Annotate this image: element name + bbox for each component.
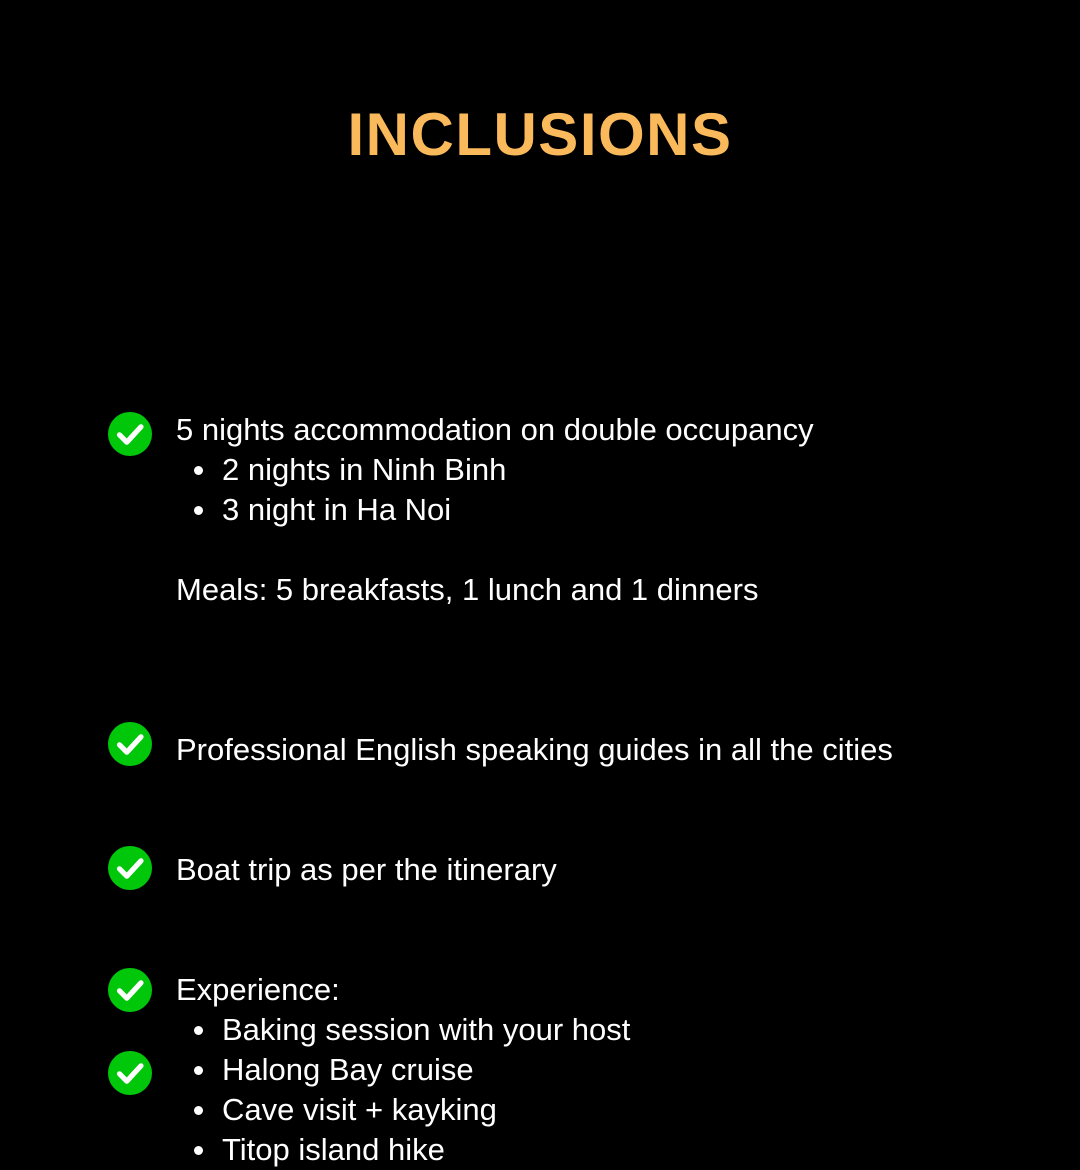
sub-list-item: 3 night in Ha Noi: [176, 490, 506, 530]
sub-list-item: 2 nights in Ninh Binh: [176, 450, 506, 490]
meals-note: Meals: 5 breakfasts, 1 lunch and 1 dinne…: [176, 570, 758, 610]
green-check-circle-icon: [108, 846, 152, 890]
sub-list-item-label: Halong Bay cruise: [222, 1052, 474, 1087]
sub-list-item: Baking session with your host: [176, 1010, 630, 1050]
sub-list: Baking session with your host Halong Bay…: [176, 1010, 630, 1170]
sub-list-item: Cave visit + kayking: [176, 1090, 630, 1130]
sub-list-item-label: Cave visit + kayking: [222, 1092, 497, 1127]
sub-list-item-label: Baking session with your host: [222, 1012, 630, 1047]
list-item-label: Boat trip as per the itinerary: [176, 850, 557, 890]
list-item: Professional English speaking guides in …: [0, 238, 1080, 278]
bullet-icon: [194, 1026, 203, 1035]
list-item: Boat trip as per the itinerary: [0, 278, 1080, 318]
list-item-label: Experience:: [176, 970, 340, 1010]
sub-list: 2 nights in Ninh Binh 3 night in Ha Noi: [176, 450, 506, 530]
inclusions-list: 5 nights accommodation on double occupan…: [0, 198, 1080, 358]
sub-list-item: Titop island hike: [176, 1130, 630, 1170]
bullet-icon: [194, 1106, 203, 1115]
bullet-icon: [194, 466, 203, 475]
green-check-circle-icon: [108, 722, 152, 766]
list-item-label: 5 nights accommodation on double occupan…: [176, 410, 814, 450]
green-check-circle-icon: [108, 412, 152, 456]
sub-list-item-label: Titop island hike: [222, 1132, 445, 1167]
inclusions-slide: INCLUSIONS 5 nights accommodation on dou…: [0, 0, 1080, 1080]
green-check-circle-icon: [108, 1051, 152, 1095]
list-item: Experience: Baking session with your hos…: [0, 318, 1080, 358]
green-check-circle-icon: [108, 968, 152, 1012]
list-item: 5 nights accommodation on double occupan…: [0, 198, 1080, 238]
sub-list-item-label: 2 nights in Ninh Binh: [222, 452, 506, 487]
list-item-label: Professional English speaking guides in …: [176, 730, 893, 770]
sub-list-item: Halong Bay cruise: [176, 1050, 630, 1090]
sub-list-item-label: 3 night in Ha Noi: [222, 492, 451, 527]
bullet-icon: [194, 1066, 203, 1075]
bullet-icon: [194, 1146, 203, 1155]
page-title: INCLUSIONS: [0, 104, 1080, 166]
bullet-icon: [194, 506, 203, 515]
